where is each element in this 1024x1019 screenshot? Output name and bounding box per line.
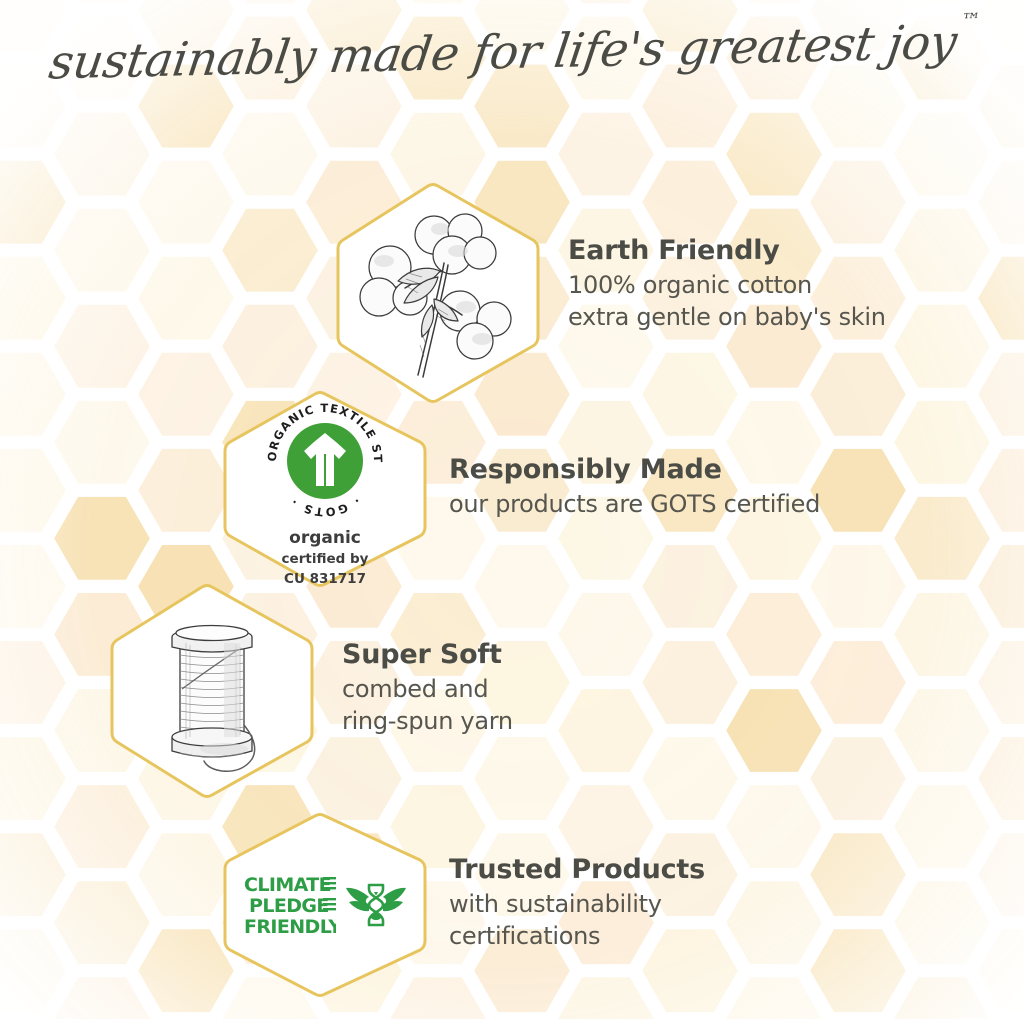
feature-title: Earth Friendly bbox=[568, 234, 886, 268]
feature-row-responsibly-made: GLOBAL ORGANIC TEXTILE STANDARD · GOTS ·… bbox=[215, 390, 820, 588]
feature-title: Responsibly Made bbox=[449, 453, 820, 487]
winged-hourglass-icon bbox=[345, 879, 407, 931]
feature-desc-line: 100% organic cotton bbox=[568, 270, 886, 302]
feature-text-super-soft: Super Soft combed and ring-spun yarn bbox=[324, 638, 513, 743]
climate-pledge-friendly-wordmark: CLIMATE PLEDGE FRIENDLY bbox=[244, 874, 336, 936]
feature-desc-line: extra gentle on baby's skin bbox=[568, 302, 886, 334]
feature-text-responsibly-made: Responsibly Made our products are GOTS c… bbox=[435, 453, 820, 524]
feature-desc-line: ring-spun yarn bbox=[342, 706, 513, 738]
gots-certified-by-label: certified by bbox=[215, 551, 435, 568]
headline-banner: sustainably made for life's greatest joy… bbox=[0, 26, 1024, 80]
feature-row-trusted-products: CLIMATE PLEDGE FRIENDLY bbox=[215, 812, 705, 998]
cotton-branch-sketch-icon bbox=[330, 182, 546, 404]
feature-text-trusted-products: Trusted Products with sustainability cer… bbox=[435, 853, 705, 956]
feature-title: Trusted Products bbox=[449, 853, 705, 887]
feature-desc-line: with sustainability bbox=[449, 889, 705, 921]
feature-desc-line: our products are GOTS certified bbox=[449, 489, 820, 521]
feature-row-earth-friendly: Earth Friendly 100% organic cotton extra… bbox=[330, 182, 886, 404]
feature-text-earth-friendly: Earth Friendly 100% organic cotton extra… bbox=[546, 234, 886, 351]
headline-text: sustainably made for life's greatest joy bbox=[46, 15, 960, 90]
feature-desc-line: combed and bbox=[342, 674, 513, 706]
hexagon-frame-super-soft bbox=[100, 583, 324, 799]
cpf-line-3: FRIENDLY bbox=[244, 916, 336, 936]
climate-pledge-friendly-icon: CLIMATE PLEDGE FRIENDLY bbox=[215, 812, 435, 998]
gots-organic-label: organic bbox=[215, 528, 435, 548]
feature-desc-line: certifications bbox=[449, 921, 705, 953]
hexagon-frame-responsibly-made: GLOBAL ORGANIC TEXTILE STANDARD · GOTS ·… bbox=[215, 390, 435, 588]
hexagon-frame-earth-friendly bbox=[330, 182, 546, 404]
trademark-symbol: ™ bbox=[959, 10, 981, 32]
cpf-line-1: CLIMATE bbox=[244, 874, 331, 896]
cpf-line-2: PLEDGE bbox=[249, 895, 329, 917]
gots-certification-icon: GLOBAL ORGANIC TEXTILE STANDARD · GOTS ·… bbox=[215, 390, 435, 588]
hexagon-frame-trusted-products: CLIMATE PLEDGE FRIENDLY bbox=[215, 812, 435, 998]
page-title: sustainably made for life's greatest joy… bbox=[45, 16, 978, 91]
thread-spool-sketch-icon bbox=[100, 583, 324, 799]
feature-title: Super Soft bbox=[342, 638, 513, 672]
feature-row-super-soft: Super Soft combed and ring-spun yarn bbox=[100, 583, 513, 799]
